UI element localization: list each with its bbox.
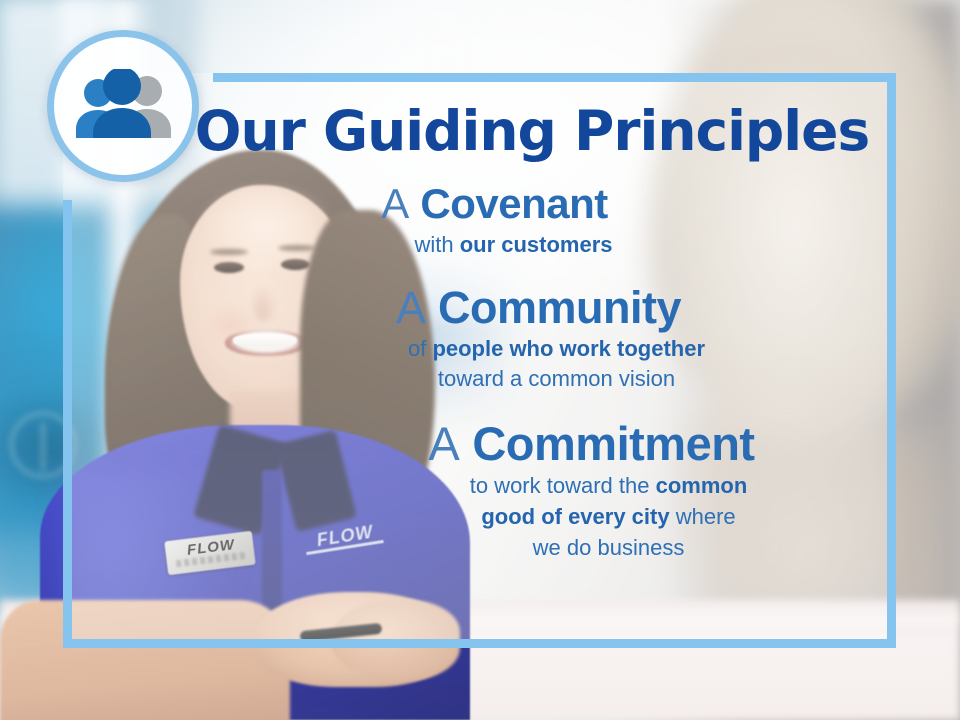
- detail-bold-1: our customers: [460, 232, 613, 257]
- principle-heading: A Community: [181, 282, 896, 334]
- principle-detail: of people who work together toward a com…: [181, 334, 896, 394]
- detail-bold-1: people who work together: [432, 336, 705, 361]
- principle-item-covenant: A Covenant with our customers: [63, 178, 896, 260]
- principle-detail: with our customers: [93, 230, 896, 260]
- principle-keyword: Commitment: [472, 417, 754, 470]
- detail-plain-1: of: [408, 336, 432, 361]
- principle-detail: to work toward the commongood of every c…: [287, 470, 896, 563]
- principle-article: A: [381, 180, 409, 227]
- detail-plain-2: toward a common vision: [438, 366, 675, 391]
- principle-article: A: [428, 417, 459, 470]
- principle-keyword: Community: [438, 282, 681, 333]
- detail-plain-4: we do business: [533, 535, 685, 560]
- detail-plain-3: where: [670, 504, 736, 529]
- principle-keyword: Covenant: [420, 180, 607, 227]
- principle-heading: A Commitment: [287, 418, 896, 470]
- principle-heading: A Covenant: [93, 178, 896, 230]
- detail-plain-1: to work toward the: [470, 473, 656, 498]
- principle-article: A: [396, 282, 426, 333]
- principles-list: A Covenant with our customers A Communit…: [63, 178, 896, 569]
- detail-bold-2: good of every city: [481, 504, 669, 529]
- principle-item-community: A Community of people who work together …: [63, 282, 896, 394]
- guiding-principles-graphic: FLOW FLOW Our Guiding Principles: [0, 0, 960, 720]
- page-title: Our Guiding Principles: [63, 101, 896, 161]
- detail-bold-1: common: [656, 473, 748, 498]
- detail-plain-1: with: [414, 232, 459, 257]
- text-content: Our Guiding Principles A Covenant with o…: [63, 73, 896, 648]
- principle-item-commitment: A Commitment to work toward the commongo…: [63, 418, 896, 563]
